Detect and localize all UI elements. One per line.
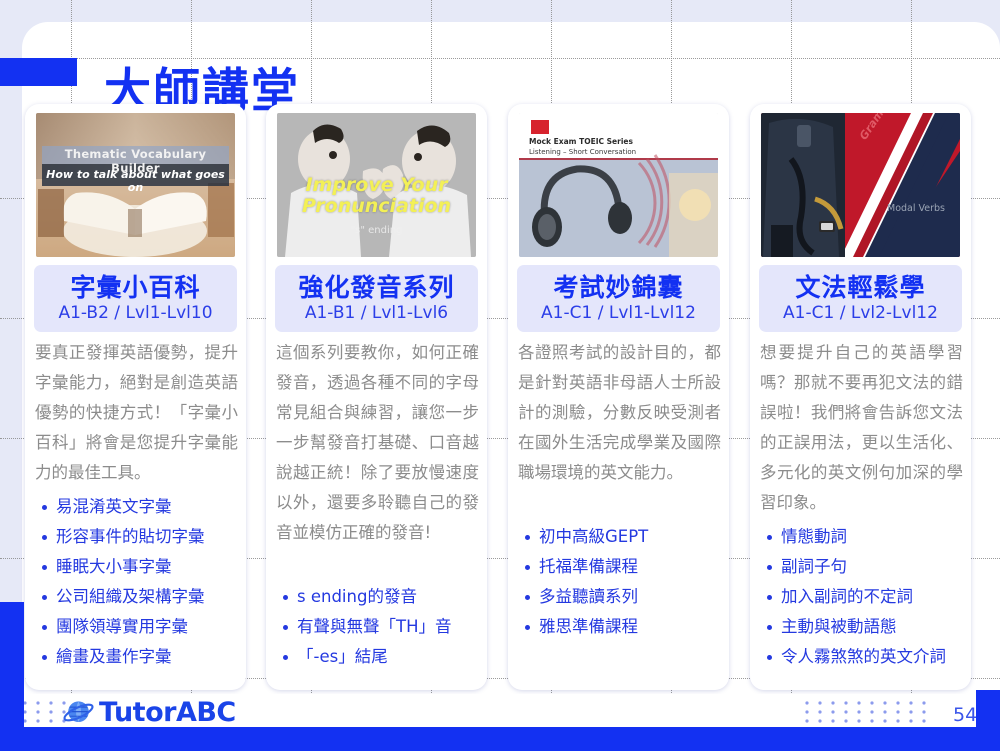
course-thumbnail: Grammar Police! Modal Verbs [761,113,960,257]
thumb-overlay-subtitle: Modal Verbs [887,203,945,214]
list-item[interactable]: 形容事件的貼切字彙 [39,522,239,552]
course-title: 強化發音系列 [298,274,454,302]
list-item[interactable]: 加入副詞的不定詞 [764,582,964,612]
course-card[interactable]: Grammar Police! Modal Verbs 文法輕鬆學 A1-C1 … [750,104,971,690]
course-topic-list: 情態動詞 副詞子句 加入副詞的不定詞 主動與被動語態 令人霧煞煞的英文介詞 [764,522,964,672]
course-description: 這個系列要教你，如何正確發音，透過各種不同的字母常見組合與練習，讓您一步一步幫發… [276,338,479,548]
thumb-overlay-subtitle: Listening – Short Conversation [529,148,636,156]
list-item[interactable]: 繪畫及畫作字彙 [39,642,239,672]
course-card[interactable]: Improve Your Pronunciation "s" ending 強化… [266,104,487,690]
course-title-band: 強化發音系列 A1-B1 / Lvl1-Lvl6 [275,265,478,332]
course-thumbnail: Improve Your Pronunciation "s" ending [277,113,476,257]
globe-icon [62,696,95,729]
list-item[interactable]: 易混淆英文字彙 [39,492,239,522]
course-title-band: 考試妙錦囊 A1-C1 / Lvl1-Lvl12 [517,265,720,332]
course-card[interactable]: Mock Exam TOEIC Series Listening – Short… [508,104,729,690]
course-title: 考試妙錦囊 [553,274,683,302]
logo-text: TutorABC [99,699,236,726]
toeic-headphones-image [519,113,718,257]
list-item[interactable]: 「-es」結尾 [280,642,480,672]
title-accent-bar [0,58,77,86]
course-title: 文法輕鬆學 [795,274,925,302]
list-item[interactable]: 副詞子句 [764,552,964,582]
thumb-overlay-title: Mock Exam TOEIC Series [529,137,633,146]
thumb-overlay-title: Improve Your [277,175,476,196]
tutorabc-logo[interactable]: TutorABC [62,696,236,729]
bottom-accent-rail [0,727,1000,751]
list-item[interactable]: 情態動詞 [764,522,964,552]
course-topic-list: s ending的發音 有聲與無聲「TH」音 「-es」結尾 [280,582,480,672]
list-item[interactable]: 公司組織及架構字彙 [39,582,239,612]
course-thumbnail: Thematic Vocabulary Builder How to talk … [36,113,235,257]
course-level: A1-B2 / Lvl1-Lvl10 [58,304,212,323]
course-title-band: 文法輕鬆學 A1-C1 / Lvl2-Lvl12 [759,265,962,332]
course-thumbnail: Mock Exam TOEIC Series Listening – Short… [519,113,718,257]
course-description: 各證照考試的設計目的，都是針對英語非母語人士所設計的測驗，分數反映受測者在國外生… [518,338,721,488]
course-level: A1-C1 / Lvl1-Lvl12 [541,304,696,323]
course-topic-list: 易混淆英文字彙 形容事件的貼切字彙 睡眠大小事字彙 公司組織及架構字彙 團隊領導… [39,492,239,672]
course-title-band: 字彙小百科 A1-B2 / Lvl1-Lvl10 [34,265,237,332]
thumb-overlay-subtitle: How to talk about what goes on [43,168,228,194]
course-card[interactable]: Thematic Vocabulary Builder How to talk … [25,104,246,690]
course-description: 想要提升自己的英語學習嗎？那就不要再犯文法的錯誤啦！我們將會告訴您文法的正誤用法… [760,338,963,518]
list-item[interactable]: 令人霧煞煞的英文介詞 [764,642,964,672]
page-number: 54 [953,704,977,726]
decorative-dots-right [803,699,943,725]
list-item[interactable]: 初中高級GEPT [522,522,722,552]
list-item[interactable]: 睡眠大小事字彙 [39,552,239,582]
thumb-overlay-subtitle: Pronunciation [277,196,476,217]
list-item[interactable]: 團隊領導實用字彙 [39,612,239,642]
course-topic-list: 初中高級GEPT 托福準備課程 多益聽讀系列 雅思準備課程 [522,522,722,642]
list-item[interactable]: s ending的發音 [280,582,480,612]
list-item[interactable]: 多益聽讀系列 [522,582,722,612]
list-item[interactable]: 托福準備課程 [522,552,722,582]
course-level: A1-B1 / Lvl1-Lvl6 [305,304,448,323]
list-item[interactable]: 主動與被動語態 [764,612,964,642]
course-level: A1-C1 / Lvl2-Lvl12 [783,304,938,323]
thumb-overlay-tag: "s" ending [277,225,476,236]
course-title: 字彙小百科 [70,274,200,302]
course-description: 要真正發揮英語優勢，提升字彙能力，絕對是創造英語優勢的快捷方式！「字彙小百科」將… [35,338,238,488]
list-item[interactable]: 雅思準備課程 [522,612,722,642]
course-card-grid: Thematic Vocabulary Builder How to talk … [22,104,1000,694]
list-item[interactable]: 有聲與無聲「TH」音 [280,612,480,642]
slide-canvas: 大師講堂 [0,0,1000,751]
